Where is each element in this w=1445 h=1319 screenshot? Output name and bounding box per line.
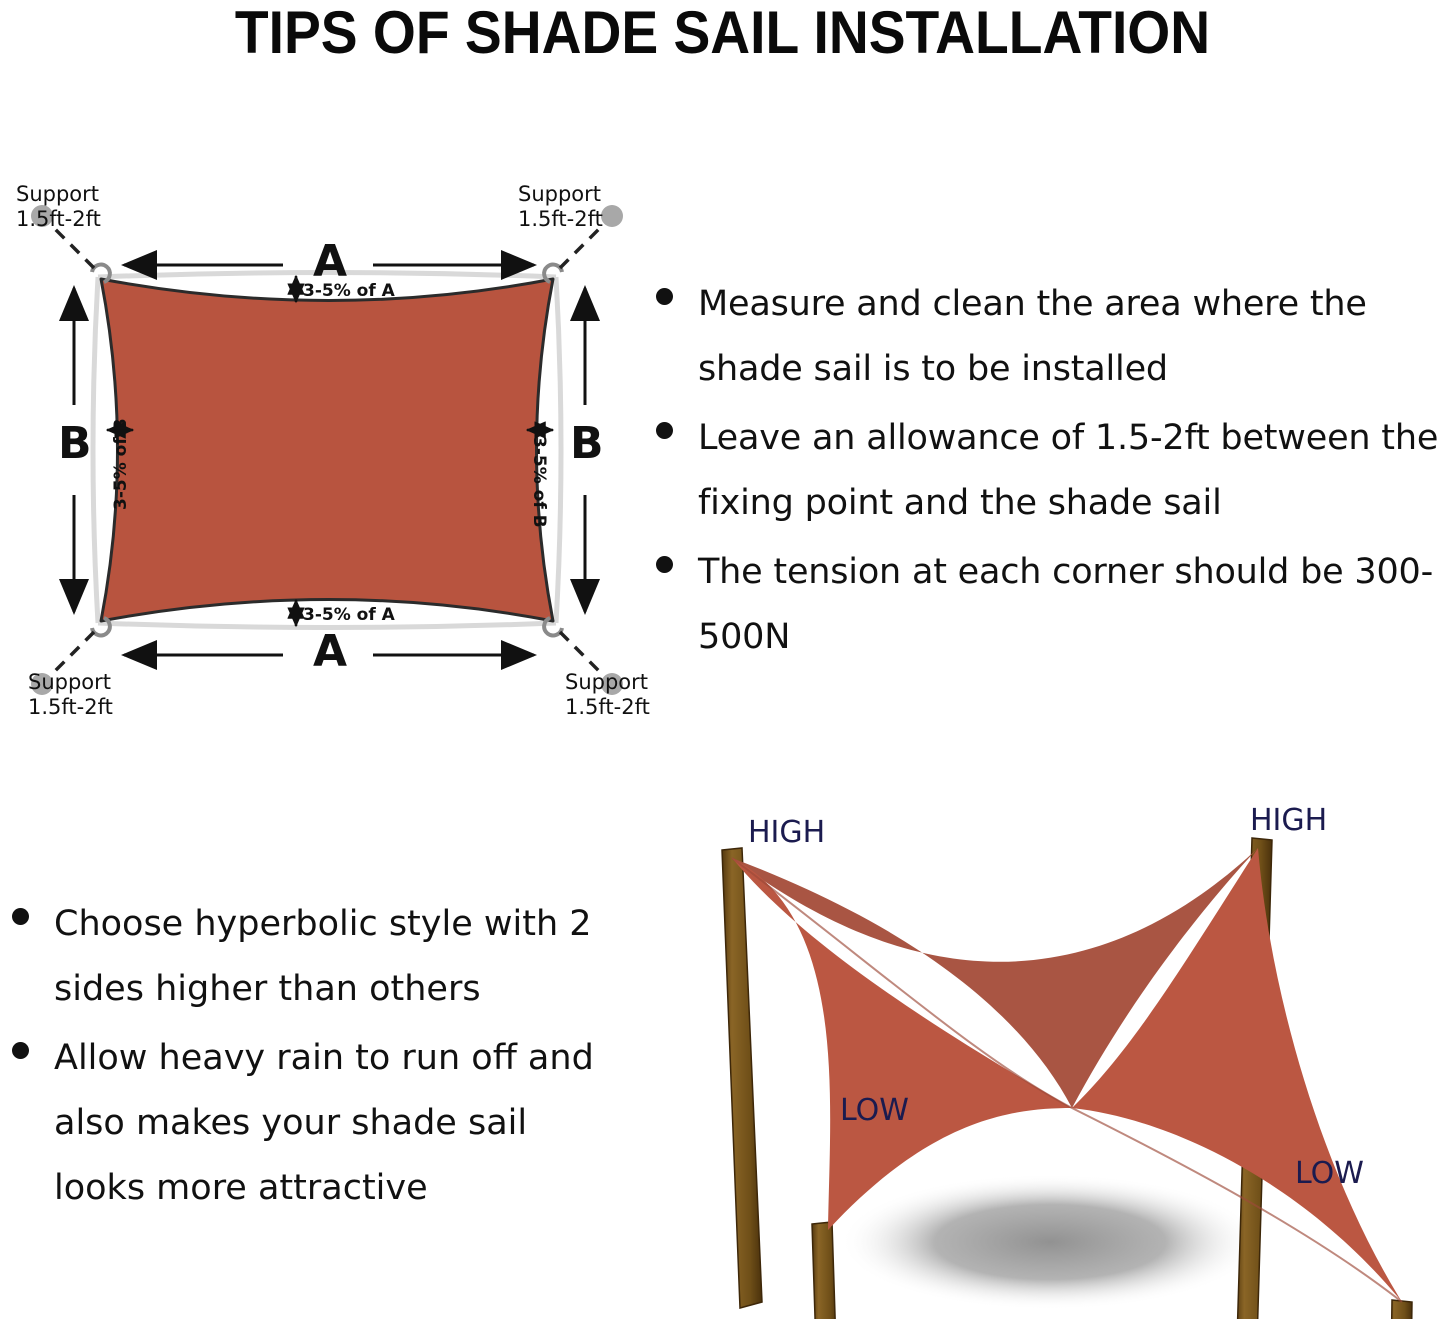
support-label-top-right: Support 1.5ft-2ft xyxy=(518,182,603,232)
sail-panel-front xyxy=(732,858,1072,1230)
tip-text: Allow heavy rain to run off and also mak… xyxy=(54,1026,620,1221)
list-item: Choose hyperbolic style with 2 sides hig… xyxy=(0,892,620,1022)
post-label-high-left: HIGH xyxy=(748,815,825,850)
dimension-label-a-bottom: A xyxy=(313,630,347,674)
curve-note-left: 3-5% of B xyxy=(112,418,130,510)
ground-shadow xyxy=(840,1174,1260,1310)
list-item: Allow heavy rain to run off and also mak… xyxy=(0,1026,620,1221)
list-item: The tension at each corner should be 300… xyxy=(644,540,1444,670)
tip-text: Measure and clean the area where the sha… xyxy=(698,272,1444,402)
shade-sail-shape xyxy=(101,279,553,621)
curve-note-right: 3-5% of B xyxy=(530,436,548,528)
infographic-page: TIPS OF SHADE SAIL INSTALLATION xyxy=(0,0,1445,1319)
bullet-dot-icon xyxy=(12,1042,29,1059)
bullet-dot-icon xyxy=(12,908,29,925)
curve-note-bottom: 3-5% of A xyxy=(303,606,395,624)
dimension-label-b-right: B xyxy=(570,422,604,466)
post-front-right xyxy=(1388,1300,1412,1319)
bullet-dot-icon xyxy=(656,288,673,305)
support-label-top-left: Support 1.5ft-2ft xyxy=(16,182,101,232)
post-label-high-right: HIGH xyxy=(1250,803,1327,838)
post-label-low-right: LOW xyxy=(1295,1156,1364,1191)
tip-text: The tension at each corner should be 300… xyxy=(698,540,1444,670)
tips-list-installation: Measure and clean the area where the sha… xyxy=(644,272,1444,674)
tip-text: Choose hyperbolic style with 2 sides hig… xyxy=(54,892,620,1022)
support-label-bottom-left: Support 1.5ft-2ft xyxy=(28,670,113,720)
bullet-dot-icon xyxy=(656,556,673,573)
tips-list-hyperbolic: Choose hyperbolic style with 2 sides hig… xyxy=(0,892,620,1225)
hyperbolic-sail-illustration: HIGH HIGH LOW LOW xyxy=(680,790,1445,1319)
curve-note-top: 3-5% of A xyxy=(303,282,395,300)
list-item: Leave an allowance of 1.5-2ft between th… xyxy=(644,406,1444,536)
post-front-left xyxy=(812,1222,838,1319)
tip-text: Leave an allowance of 1.5-2ft between th… xyxy=(698,406,1444,536)
post-label-low-left: LOW xyxy=(840,1093,909,1128)
dimension-label-b-left: B xyxy=(58,422,92,466)
bullet-dot-icon xyxy=(656,422,673,439)
post-back-left xyxy=(722,848,762,1308)
list-item: Measure and clean the area where the sha… xyxy=(644,272,1444,402)
dimension-label-a-top: A xyxy=(313,240,347,284)
support-label-bottom-right: Support 1.5ft-2ft xyxy=(565,670,650,720)
